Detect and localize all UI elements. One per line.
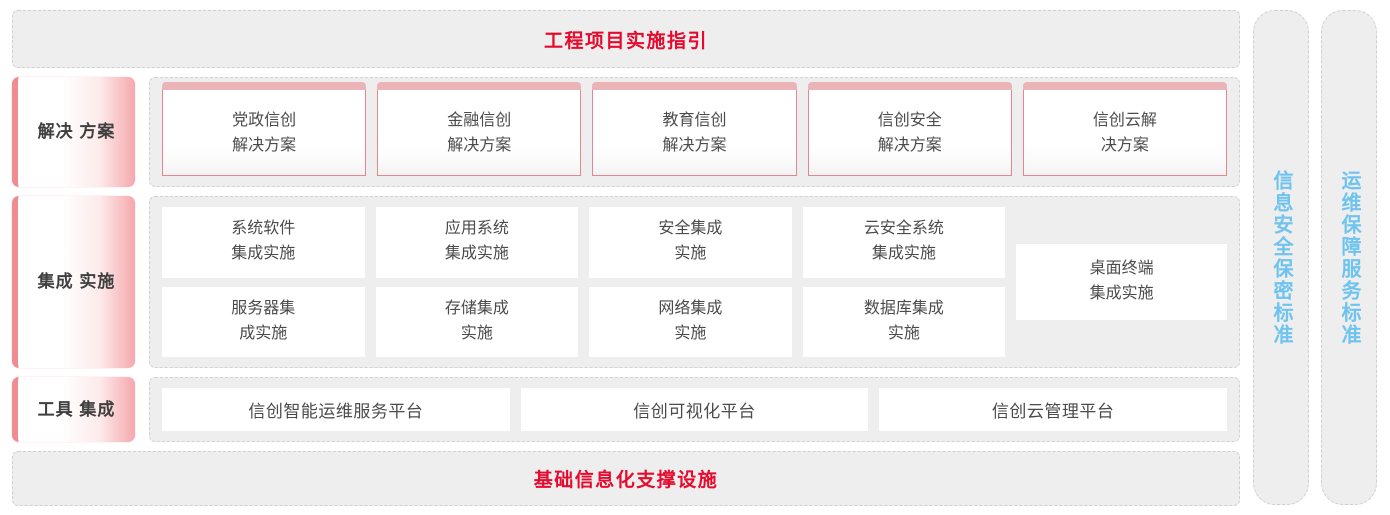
- integration-grid-cells: 系统软件 集成实施 应用系统 集成实施 安全集成 实施 云安全系统 集成实施 服: [162, 207, 1005, 357]
- integration-card-application-system-label: 应用系统 集成实施: [445, 217, 509, 267]
- tool-card-aiops-platform-label: 信创智能运维服务平台: [248, 397, 423, 422]
- row-solutions: 解决 方案 党政信创 解决方案 金融信创 解决方案 教育信创 解决方案 信创安全…: [12, 77, 1240, 187]
- solution-card-government[interactable]: 党政信创 解决方案: [162, 88, 366, 176]
- solution-card-finance[interactable]: 金融信创 解决方案: [377, 88, 581, 176]
- integration-card-storage[interactable]: 存储集成 实施: [376, 287, 579, 358]
- integration-card-database[interactable]: 数据库集成 实施: [803, 287, 1006, 358]
- integration-card-server[interactable]: 服务器集 成实施: [162, 287, 365, 358]
- integration-card-system-software-label: 系统软件 集成实施: [231, 217, 295, 267]
- tool-card-aiops-platform[interactable]: 信创智能运维服务平台: [162, 388, 510, 431]
- row-label-solutions-text: 解决 方案: [38, 120, 116, 143]
- solution-card-security[interactable]: 信创安全 解决方案: [808, 88, 1012, 176]
- integration-card-system-software[interactable]: 系统软件 集成实施: [162, 207, 365, 278]
- side-column-information-security[interactable]: 信息安全保密标准: [1253, 10, 1309, 505]
- footer-banner: 基础信息化支撑设施: [12, 451, 1240, 506]
- integration-card-security-label: 安全集成 实施: [658, 217, 722, 267]
- side-column-information-security-label: 信息安全保密标准: [1266, 170, 1296, 346]
- integration-card-storage-label: 存储集成 实施: [445, 297, 509, 347]
- integration-card-database-label: 数据库集成 实施: [864, 297, 944, 347]
- tool-card-cloud-management-platform-label: 信创云管理平台: [992, 397, 1115, 422]
- row-body-tools: 信创智能运维服务平台 信创可视化平台 信创云管理平台: [149, 377, 1240, 442]
- footer-title: 基础信息化支撑设施: [534, 465, 719, 492]
- row-label-tools-text: 工具 集成: [38, 398, 116, 421]
- row-label-tools[interactable]: 工具 集成: [12, 377, 135, 442]
- solution-card-security-label: 信创安全 解决方案: [878, 109, 942, 159]
- row-body-integration: 系统软件 集成实施 应用系统 集成实施 安全集成 实施 云安全系统 集成实施 服: [149, 196, 1240, 368]
- diagram-root: 工程项目实施指引 解决 方案 党政信创 解决方案 金融信创 解决方案 教育信创 …: [0, 0, 1390, 515]
- integration-card-network-label: 网络集成 实施: [658, 297, 722, 347]
- solution-card-government-label: 党政信创 解决方案: [232, 109, 296, 159]
- solution-card-education[interactable]: 教育信创 解决方案: [592, 88, 796, 176]
- integration-card-security[interactable]: 安全集成 实施: [589, 207, 792, 278]
- main-column: 工程项目实施指引 解决 方案 党政信创 解决方案 金融信创 解决方案 教育信创 …: [12, 10, 1240, 505]
- side-column-ops-service[interactable]: 运维保障服务标准: [1321, 10, 1377, 505]
- solution-card-finance-label: 金融信创 解决方案: [447, 109, 511, 159]
- row-body-solutions: 党政信创 解决方案 金融信创 解决方案 教育信创 解决方案 信创安全 解决方案 …: [149, 77, 1240, 187]
- row-label-integration[interactable]: 集成 实施: [12, 196, 135, 368]
- integration-card-server-label: 服务器集 成实施: [231, 297, 295, 347]
- tool-card-visualization-platform-label: 信创可视化平台: [633, 397, 756, 422]
- integration-card-network[interactable]: 网络集成 实施: [589, 287, 792, 358]
- solution-card-education-label: 教育信创 解决方案: [663, 109, 727, 159]
- integration-grid: 系统软件 集成实施 应用系统 集成实施 安全集成 实施 云安全系统 集成实施 服: [162, 207, 1227, 357]
- row-label-solutions[interactable]: 解决 方案: [12, 77, 135, 187]
- integration-card-application-system[interactable]: 应用系统 集成实施: [376, 207, 579, 278]
- row-integration: 集成 实施 系统软件 集成实施 应用系统 集成实施 安全集成 实施: [12, 196, 1240, 368]
- solution-card-cloud[interactable]: 信创云解 决方案: [1023, 88, 1227, 176]
- integration-card-desktop-terminal-label: 桌面终端 集成实施: [1090, 257, 1154, 307]
- integration-card-cloud-security[interactable]: 云安全系统 集成实施: [803, 207, 1006, 278]
- page-title: 工程项目实施指引: [544, 26, 708, 53]
- row-tools: 工具 集成 信创智能运维服务平台 信创可视化平台 信创云管理平台: [12, 377, 1240, 442]
- row-label-integration-text: 集成 实施: [38, 270, 116, 293]
- integration-card-desktop-terminal[interactable]: 桌面终端 集成实施: [1016, 244, 1227, 320]
- integration-tall-column: 桌面终端 集成实施: [1016, 207, 1227, 357]
- integration-card-cloud-security-label: 云安全系统 集成实施: [864, 217, 944, 267]
- tool-card-visualization-platform[interactable]: 信创可视化平台: [521, 388, 869, 431]
- tool-card-cloud-management-platform[interactable]: 信创云管理平台: [879, 388, 1227, 431]
- header-banner: 工程项目实施指引: [12, 10, 1240, 68]
- side-column-ops-service-label: 运维保障服务标准: [1334, 170, 1364, 346]
- solution-card-cloud-label: 信创云解 决方案: [1093, 109, 1157, 159]
